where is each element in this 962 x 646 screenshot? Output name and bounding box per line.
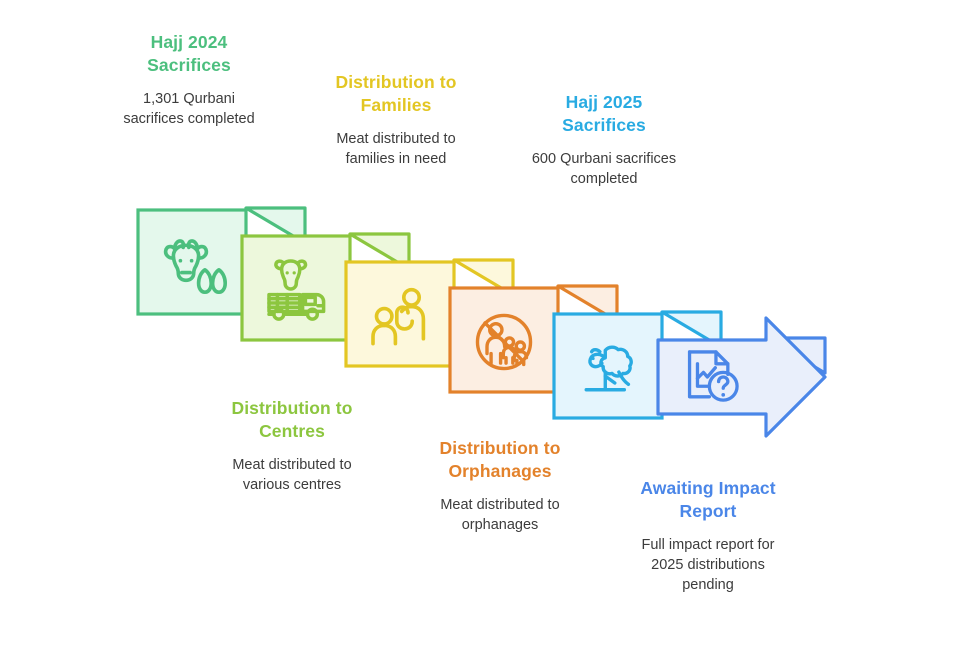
- step-4-label-block: Distribution to Orphanages Meat distribu…: [424, 437, 576, 535]
- step-6-title: Awaiting Impact Report: [632, 477, 784, 523]
- step-2-label-block: Distribution to Centres Meat distributed…: [216, 397, 368, 495]
- step-1-label-block: Hajj 2024 Sacrifices 1,301 Qurbani sacri…: [114, 31, 264, 129]
- step-2-title: Distribution to Centres: [216, 397, 368, 443]
- step-6-label-block: Awaiting Impact Report Full impact repor…: [632, 477, 784, 595]
- step-4-description: Meat distributed to orphanages: [424, 483, 576, 535]
- step-1-title: Hajj 2024 Sacrifices: [114, 31, 264, 77]
- infographic-canvas: Hajj 2024 Sacrifices 1,301 Qurbani sacri…: [0, 0, 962, 646]
- step-6-arrow-body: [658, 318, 825, 436]
- step-5-label-block: Hajj 2025 Sacrifices 600 Qurbani sacrifi…: [528, 91, 680, 189]
- step-3-card-body: [346, 262, 454, 366]
- step-2-description: Meat distributed to various centres: [216, 443, 368, 495]
- step-1-description: 1,301 Qurbani sacrifices completed: [114, 77, 264, 129]
- step-5-title: Hajj 2025 Sacrifices: [528, 91, 680, 137]
- step-4-title: Distribution to Orphanages: [424, 437, 576, 483]
- step-5-card-body: [554, 314, 662, 418]
- step-3-description: Meat distributed to families in need: [320, 117, 472, 169]
- step-6-description: Full impact report for 2025 distribution…: [632, 523, 784, 595]
- step-3-label-block: Distribution to Families Meat distribute…: [320, 71, 472, 169]
- process-step-6[interactable]: [658, 318, 825, 436]
- step-5-description: 600 Qurbani sacrifices completed: [528, 137, 680, 189]
- step-3-title: Distribution to Families: [320, 71, 472, 117]
